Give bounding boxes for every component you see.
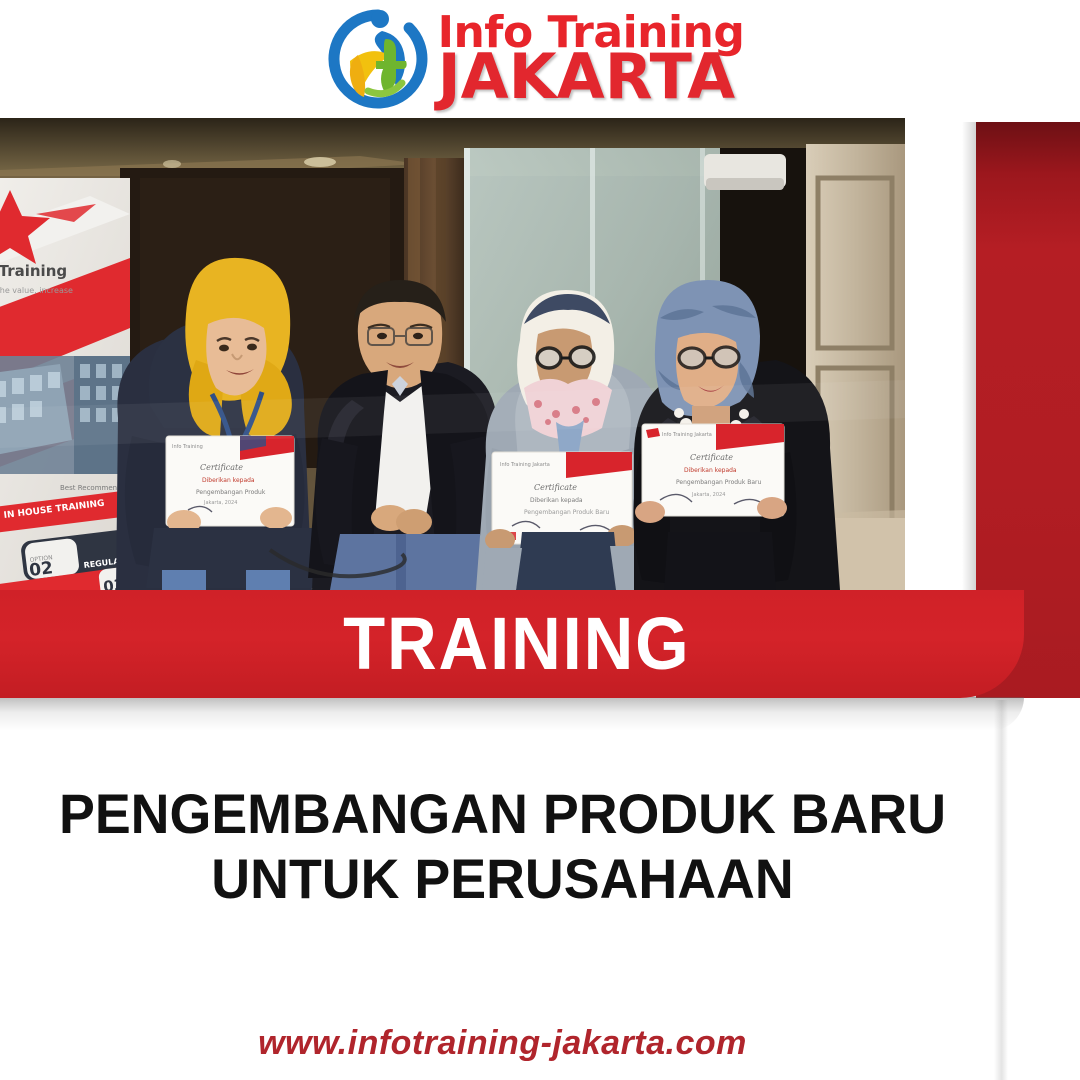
brand-logo-lockup[interactable]: Info Training JAKARTA	[324, 5, 745, 113]
banner-label: TRAINING	[343, 607, 691, 681]
website-url[interactable]: www.infotraining-jakarta.com	[0, 1024, 1005, 1063]
svg-text:Pengembangan Produk: Pengembangan Produk	[196, 489, 266, 496]
svg-text:Info Training Jakarta: Info Training Jakarta	[662, 432, 712, 438]
svg-text:Diberikan kepada: Diberikan kepada	[530, 497, 583, 504]
svg-text:Info Training: Info Training	[172, 444, 203, 450]
poster-canvas: ng Training Build the value, increase	[0, 0, 1080, 1080]
page-title-line1: PENGEMBANGAN PRODUK BARU	[20, 782, 985, 847]
svg-text:ng Training: ng Training	[0, 262, 67, 280]
svg-text:Certificate: Certificate	[200, 463, 243, 472]
svg-text:Pengembangan Produk Baru: Pengembangan Produk Baru	[524, 509, 609, 516]
svg-text:Certificate: Certificate	[690, 453, 733, 462]
svg-text:Pengembangan Produk Baru: Pengembangan Produk Baru	[676, 479, 761, 486]
page-title-line2: UNTUK PERUSAHAAN	[20, 847, 985, 912]
brand-header: Info Training JAKARTA	[0, 0, 1080, 118]
svg-text:Certificate: Certificate	[534, 483, 577, 492]
svg-text:Diberikan kepada: Diberikan kepada	[202, 477, 255, 484]
svg-text:Build the value, increase: Build the value, increase	[0, 286, 73, 295]
brand-wordmark: Info Training JAKARTA	[438, 13, 745, 105]
page-title: PENGEMBANGAN PRODUK BARU UNTUK PERUSAHAA…	[0, 782, 1005, 912]
training-banner: TRAINING	[0, 590, 1024, 698]
svg-text:Info Training Jakarta: Info Training Jakarta	[500, 462, 550, 468]
brand-name-line2: JAKARTA	[438, 48, 736, 105]
svg-text:Jakarta, 2024: Jakarta, 2024	[203, 500, 237, 506]
svg-text:Diberikan kepada: Diberikan kepada	[684, 467, 737, 474]
info-training-it-monogram-icon	[324, 5, 432, 113]
event-photo: ng Training Build the value, increase	[0, 118, 907, 590]
svg-text:Jakarta, 2024: Jakarta, 2024	[691, 492, 725, 498]
banner-drop-shadow	[0, 697, 1024, 731]
